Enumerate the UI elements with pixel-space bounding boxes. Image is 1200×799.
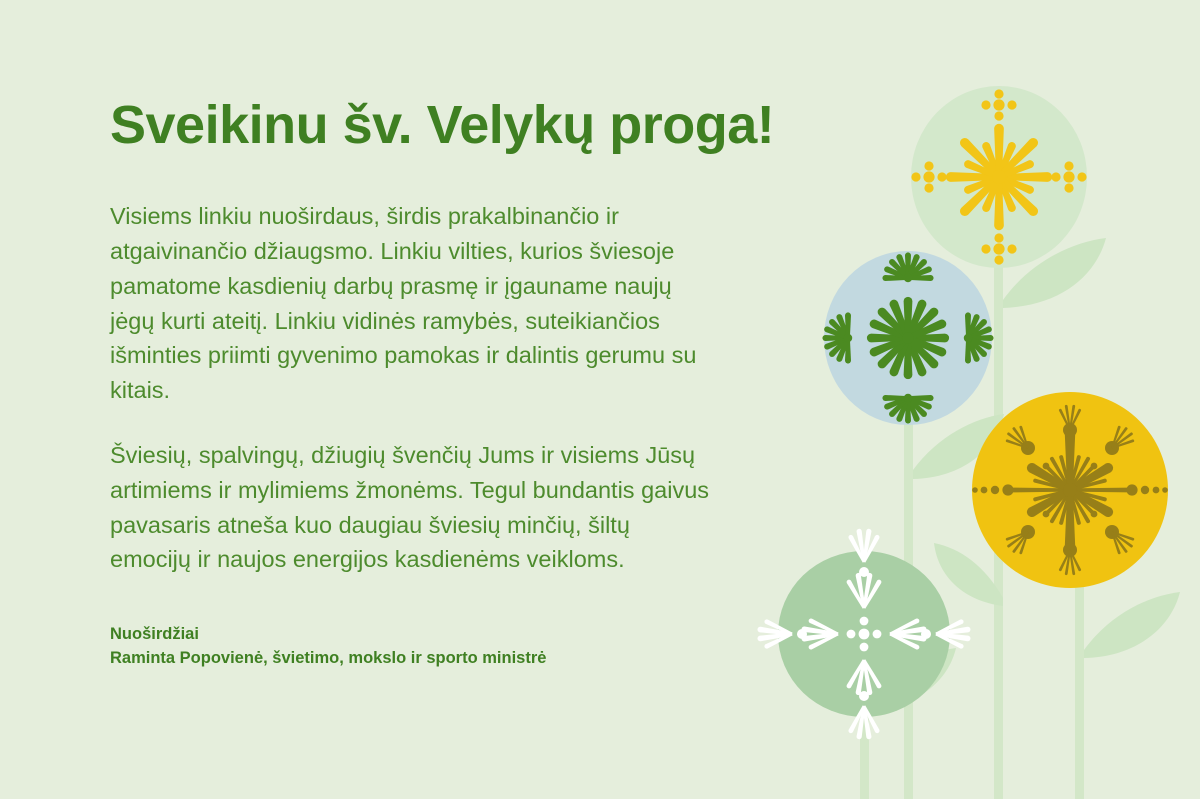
leaf-5 (934, 543, 1003, 606)
leaf-1 (1003, 238, 1106, 308)
stem-3 (1075, 560, 1084, 799)
greeting-text-block: Sveikinu šv. Velykų proga! Visiems linki… (110, 96, 730, 671)
flower-disc-sage (778, 551, 950, 717)
signature-block: Nuoširdžiai Raminta Popovienė, švietimo,… (110, 623, 730, 671)
greeting-paragraph-2: Šviesių, spalvingų, džiugių švenčių Jums… (110, 438, 710, 577)
burst-yellow (911, 89, 1086, 264)
stem-1 (994, 230, 1003, 799)
page-title: Sveikinu šv. Velykų proga! (110, 96, 730, 155)
flower-yellow-olive (972, 392, 1168, 588)
flower-blue-green (822, 251, 993, 425)
stem-4 (860, 660, 869, 799)
flower-disc-mint (911, 86, 1087, 268)
burst-white (757, 528, 971, 739)
leaf-4 (869, 648, 956, 709)
flower-sage-white (757, 528, 971, 739)
flower-disc-yellow (972, 392, 1168, 588)
stem-2 (904, 400, 913, 799)
signature-closing: Nuoširdžiai (110, 623, 730, 647)
dot-clusters-yellow (911, 89, 1086, 264)
burst-green-group (822, 252, 993, 423)
flower-stems (860, 230, 1084, 799)
leaf-3 (1084, 592, 1180, 658)
flower-leaves (869, 238, 1180, 709)
flower-mint-yellow (911, 86, 1087, 268)
easter-greeting-card: Sveikinu šv. Velykų proga! Visiems linki… (0, 0, 1200, 799)
leaf-2 (913, 414, 1004, 479)
signature-name: Raminta Popovienė, švietimo, mokslo ir s… (110, 647, 730, 671)
flower-disc-blue (824, 251, 992, 425)
burst-olive (972, 405, 1168, 576)
greeting-paragraph-1: Visiems linkiu nuoširdaus, širdis prakal… (110, 199, 710, 408)
